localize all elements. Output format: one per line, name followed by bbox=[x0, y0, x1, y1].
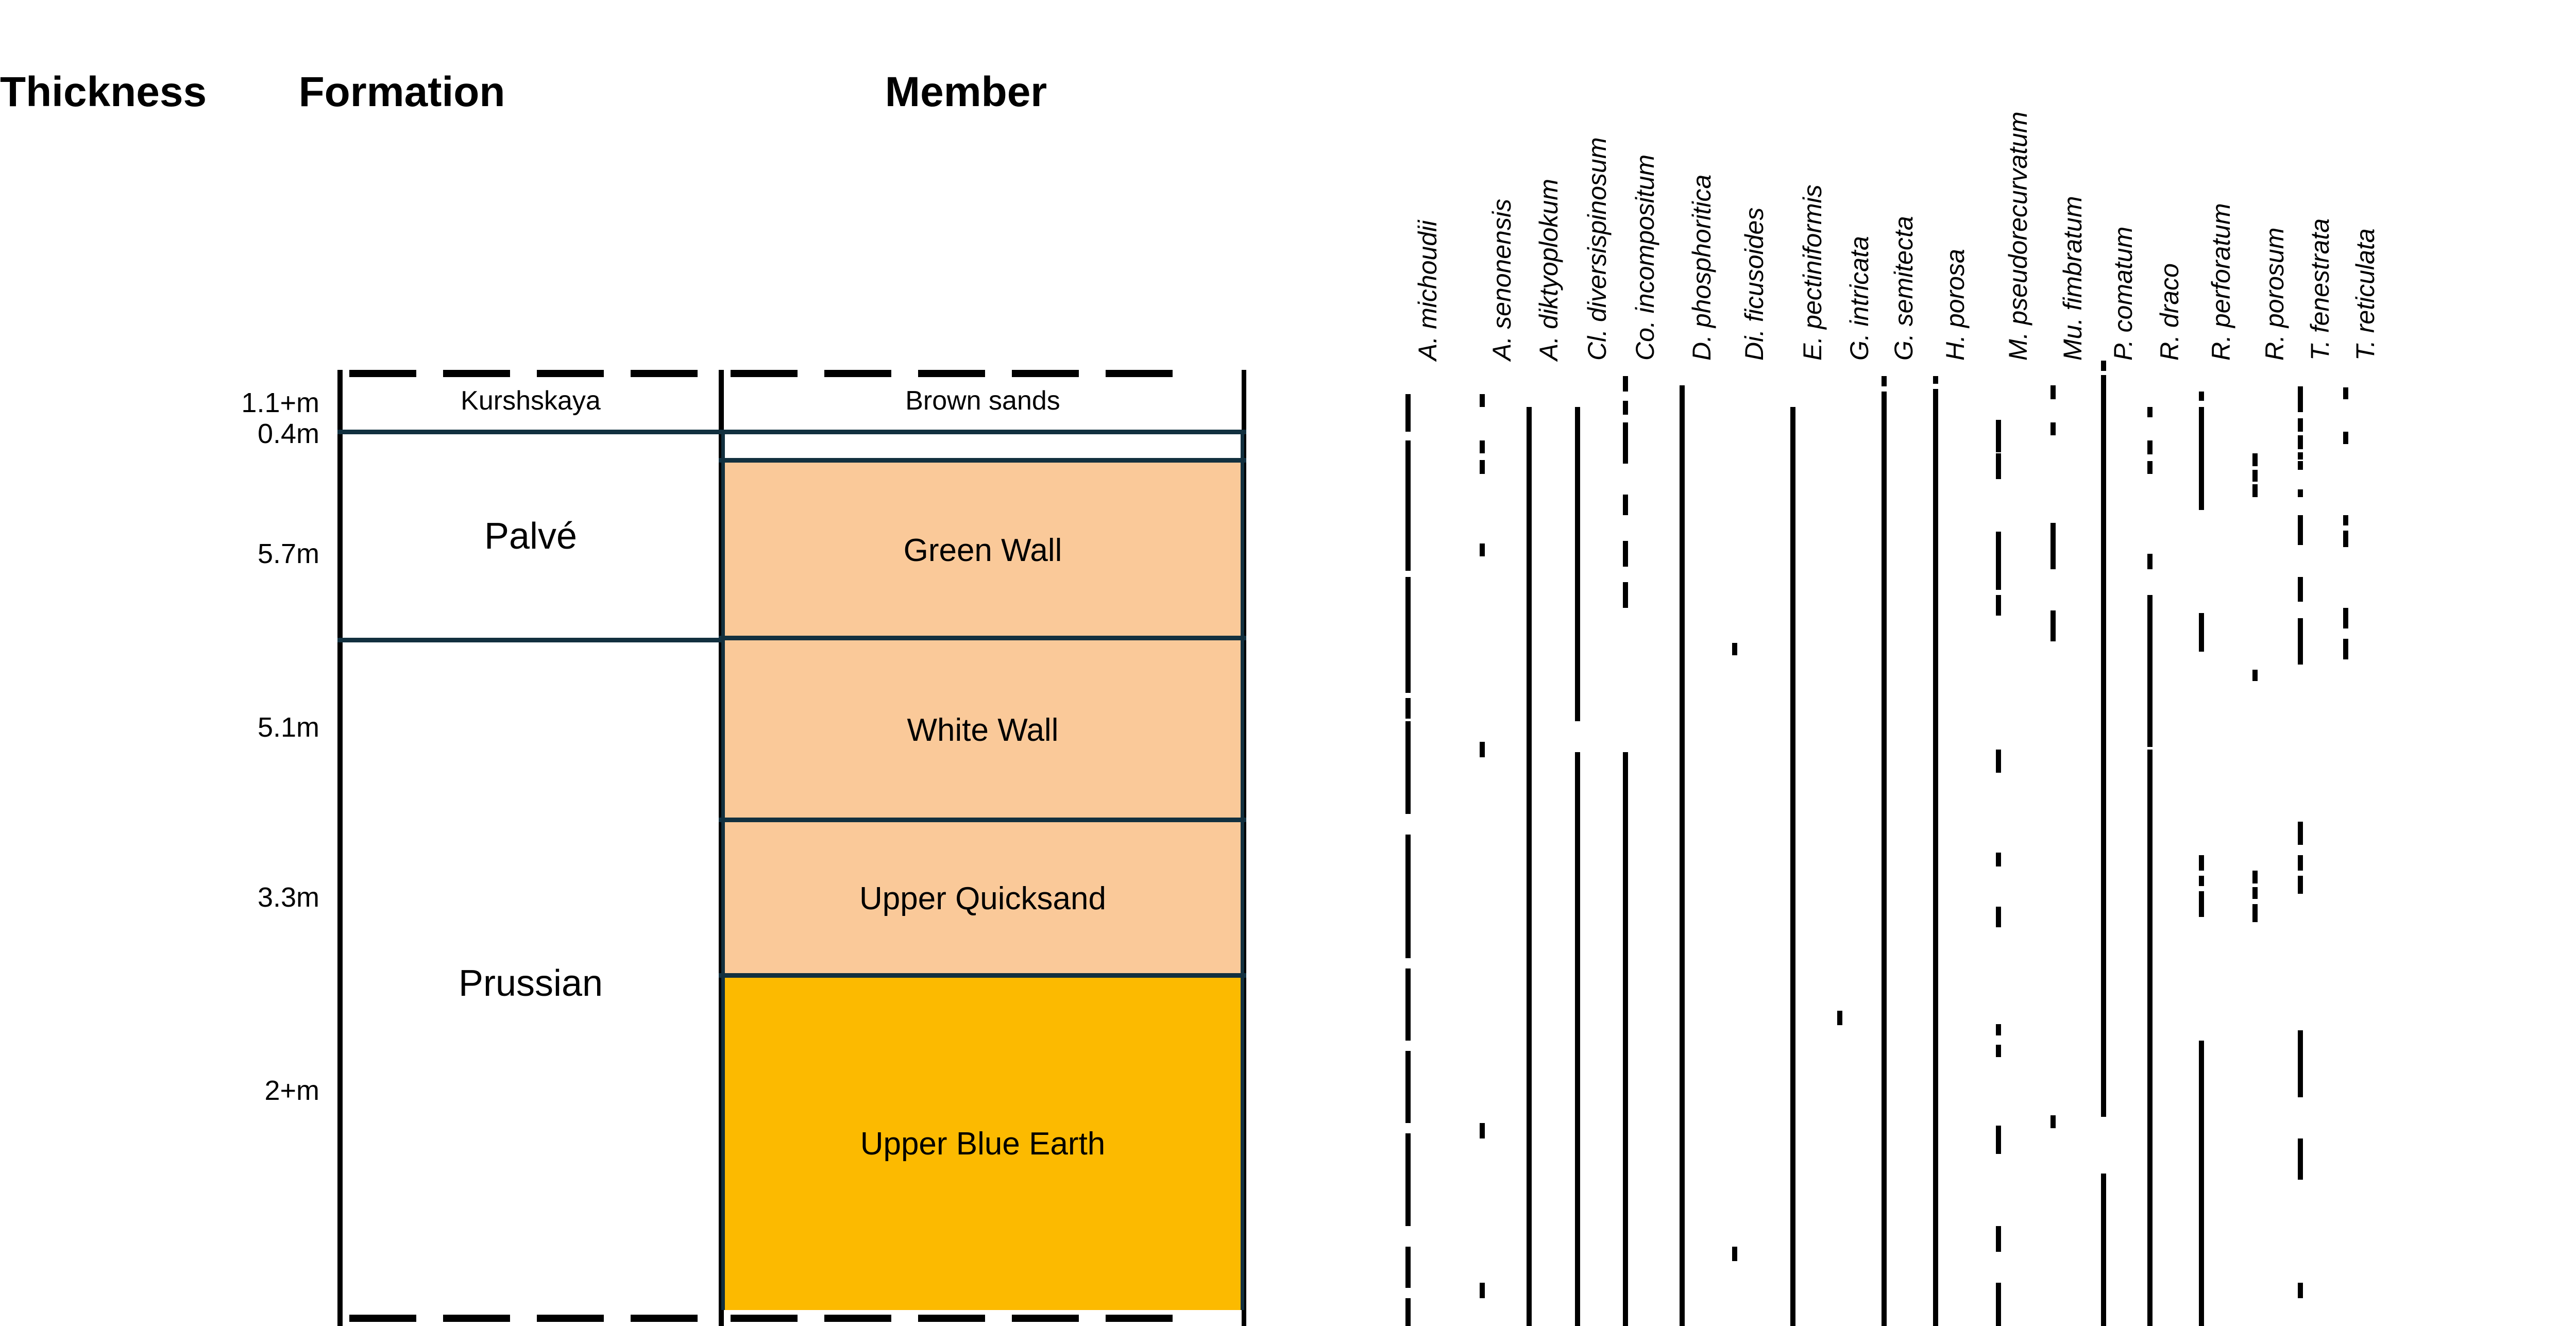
taxon-label: T. fenestrata bbox=[2307, 218, 2333, 361]
range-chart-figure: Thickness Formation Member Kurshskaya Pa… bbox=[0, 0, 2576, 1326]
taxon-label: Di. ficusoides bbox=[1741, 208, 1767, 361]
range-bar-segment bbox=[2298, 515, 2303, 545]
taxon-label: E. pectiniformis bbox=[1800, 184, 1825, 361]
taxon-label: A. michoudii bbox=[1415, 220, 1440, 361]
range-bar-segment bbox=[1480, 742, 1485, 757]
range-bar-segment bbox=[1405, 876, 1411, 958]
range-bar-segment bbox=[1996, 907, 2001, 927]
range-bar-segment bbox=[2252, 470, 2258, 482]
range-bar-segment bbox=[1405, 968, 1411, 1041]
range-bar-segment bbox=[2343, 432, 2348, 444]
range-bar-segment bbox=[2298, 647, 2303, 665]
taxon-label: G. semitecta bbox=[1891, 216, 1917, 361]
range-bar-segment bbox=[2050, 1115, 2056, 1128]
range-bar-segment bbox=[2147, 595, 2153, 747]
range-bar-segment bbox=[1575, 407, 1580, 721]
range-bar-segment bbox=[1623, 541, 1628, 567]
range-bar-segment bbox=[2298, 1283, 2303, 1298]
range-bar-segment bbox=[1480, 394, 1485, 407]
range-bar-segment bbox=[1623, 752, 1628, 1326]
range-bar-segment bbox=[1405, 835, 1411, 876]
range-bar-segment bbox=[1882, 376, 1887, 386]
range-bar-segment bbox=[1405, 1133, 1411, 1226]
range-bar-segment bbox=[1480, 1123, 1485, 1138]
range-bar-segment bbox=[2298, 822, 2303, 845]
range-bar-segment bbox=[2343, 531, 2348, 547]
range-bar-segment bbox=[1405, 536, 1411, 571]
taxa-range-panel: A. michoudiiA. senonensisA. diktyoplokum… bbox=[0, 0, 2576, 1326]
range-bar-segment bbox=[2252, 670, 2258, 681]
range-bar-segment bbox=[2050, 610, 2056, 641]
range-bar-segment bbox=[1405, 394, 1411, 404]
taxon-label: R. porosum bbox=[2262, 228, 2287, 361]
range-bar-segment bbox=[1732, 643, 1737, 655]
range-bar-segment bbox=[1933, 389, 1938, 1326]
range-bar-segment bbox=[1405, 1247, 1411, 1288]
range-bar-segment bbox=[1882, 392, 1887, 1326]
range-bar-segment bbox=[1405, 404, 1411, 432]
taxon-label: H. porosa bbox=[1942, 249, 1968, 361]
range-bar-segment bbox=[1480, 460, 1485, 474]
range-bar-segment bbox=[1996, 1283, 2001, 1326]
range-bar-segment bbox=[2199, 631, 2204, 652]
range-bar-segment bbox=[2298, 1030, 2303, 1097]
taxon-label: T. reticulata bbox=[2352, 228, 2378, 361]
range-bar-segment bbox=[2147, 750, 2153, 1326]
range-bar-segment bbox=[1623, 582, 1628, 608]
range-bar-segment bbox=[1996, 595, 2001, 616]
range-bar-segment bbox=[1996, 420, 2001, 452]
range-bar-segment bbox=[1996, 1024, 2001, 1035]
range-bar-segment bbox=[1480, 543, 1485, 556]
range-bar-segment bbox=[1996, 750, 2001, 773]
range-bar-segment bbox=[1405, 742, 1411, 814]
range-bar-segment bbox=[2298, 452, 2303, 460]
taxon-label: R. perforatum bbox=[2208, 203, 2234, 361]
taxon-label: M. pseudorecurvatum bbox=[2005, 111, 2031, 361]
range-bar-segment bbox=[1933, 376, 1938, 384]
range-bar-segment bbox=[1405, 698, 1411, 719]
range-bar-segment bbox=[1405, 721, 1411, 742]
range-bar-segment bbox=[1996, 1126, 2001, 1154]
range-bar-segment bbox=[2252, 453, 2258, 466]
taxon-label: D. phosphoritica bbox=[1689, 175, 1715, 361]
range-bar-segment bbox=[2298, 577, 2303, 602]
taxon-label: P. comatum bbox=[2110, 227, 2136, 361]
range-bar-segment bbox=[2252, 871, 2258, 883]
taxon-label: G. intricata bbox=[1846, 236, 1872, 361]
range-bar-segment bbox=[1623, 401, 1628, 415]
range-bar-segment bbox=[2147, 554, 2153, 569]
range-bar-segment bbox=[2298, 876, 2303, 894]
taxon-label: A. senonensis bbox=[1489, 199, 1515, 361]
range-bar-segment bbox=[2050, 523, 2056, 569]
range-bar-segment bbox=[1996, 453, 2001, 479]
range-bar-segment bbox=[2298, 461, 2303, 470]
range-bar-segment bbox=[1405, 440, 1411, 452]
range-bar-segment bbox=[2343, 515, 2348, 525]
range-bar-segment bbox=[2147, 461, 2153, 474]
taxon-label: A. diktyoplokum bbox=[1536, 179, 1562, 361]
range-bar-segment bbox=[2147, 407, 2153, 417]
range-bar-segment bbox=[2298, 386, 2303, 412]
range-bar-segment bbox=[1405, 592, 1411, 693]
range-bar-segment bbox=[2298, 418, 2303, 432]
range-bar-segment bbox=[1790, 407, 1795, 1326]
range-bar-segment bbox=[2101, 361, 2106, 371]
range-bar-segment bbox=[2199, 876, 2204, 886]
range-bar-segment bbox=[2298, 435, 2303, 449]
range-bar-segment bbox=[2050, 422, 2056, 435]
range-bar-segment bbox=[2199, 464, 2204, 510]
range-bar-segment bbox=[2298, 1138, 2303, 1180]
range-bar-segment bbox=[1996, 853, 2001, 866]
range-bar-segment bbox=[1996, 1226, 2001, 1252]
range-bar-segment bbox=[1575, 752, 1580, 1326]
range-bar-segment bbox=[1623, 422, 1628, 464]
range-bar-segment bbox=[1405, 1051, 1411, 1123]
taxon-label: Co. incompositum bbox=[1632, 155, 1658, 361]
range-bar-segment bbox=[1405, 460, 1411, 482]
range-bar-segment bbox=[2252, 484, 2258, 497]
range-bar-segment bbox=[1996, 572, 2001, 590]
range-bar-segment bbox=[2298, 489, 2303, 497]
range-bar-segment bbox=[1480, 440, 1485, 453]
range-bar-segment bbox=[2252, 904, 2258, 922]
range-bar-segment bbox=[1623, 376, 1628, 392]
range-bar-segment bbox=[1623, 495, 1628, 515]
range-bar-segment bbox=[1996, 1045, 2001, 1057]
range-bar-segment bbox=[2343, 639, 2348, 659]
range-bar-segment bbox=[2101, 1174, 2106, 1326]
taxon-label: R. draco bbox=[2157, 263, 2182, 361]
taxon-label: Mu. fimbratum bbox=[2060, 196, 2086, 361]
range-bar-segment bbox=[2343, 387, 2348, 399]
range-bar-segment bbox=[1837, 1011, 1842, 1025]
range-bar-segment bbox=[1527, 407, 1532, 1326]
range-bar-segment bbox=[2252, 887, 2258, 899]
taxon-label: Cl. diversispinosum bbox=[1584, 138, 1610, 361]
range-bar-segment bbox=[1480, 1283, 1485, 1298]
range-bar-segment bbox=[2199, 855, 2204, 871]
range-bar-segment bbox=[1732, 1247, 1737, 1261]
range-bar-segment bbox=[1405, 1298, 1411, 1326]
range-bar-segment bbox=[2199, 891, 2204, 917]
range-bar-segment bbox=[2199, 392, 2204, 401]
range-bar-segment bbox=[2298, 855, 2303, 871]
range-bar-segment bbox=[2343, 608, 2348, 628]
range-bar-segment bbox=[2147, 440, 2153, 454]
range-bar-segment bbox=[2101, 375, 2106, 1117]
range-bar-segment bbox=[2050, 385, 2056, 399]
range-bar-segment bbox=[2199, 1041, 2204, 1326]
range-bar-segment bbox=[1680, 385, 1685, 1326]
